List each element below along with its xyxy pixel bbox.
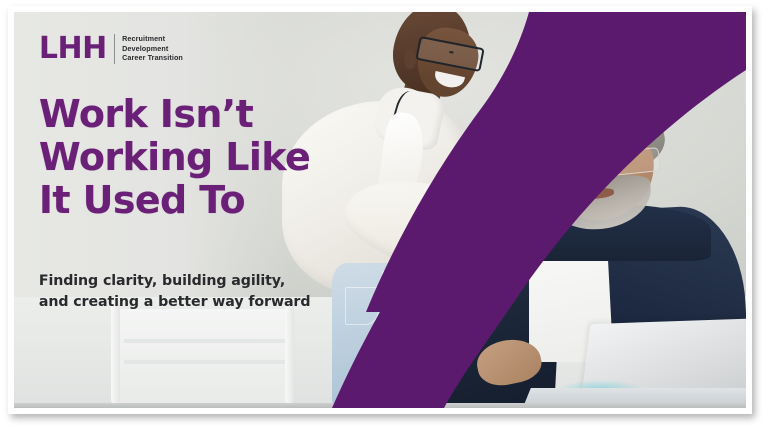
chair-slat [124, 360, 285, 364]
logo-descriptor-line-3: Career Transition [122, 54, 183, 62]
woman-jeans-seam [382, 271, 384, 392]
slide-frame: LHH Recruitment Development Career Trans… [8, 6, 752, 414]
desk-edge [14, 403, 746, 408]
chair-post-left [111, 301, 120, 404]
subhead-line-1: Finding clarity, building agility, [39, 271, 311, 292]
lhh-logo[interactable]: LHH Recruitment Development Career Trans… [39, 34, 183, 64]
chair-slat [124, 339, 285, 343]
headline-line-2: Working Like [39, 136, 310, 179]
headline-line-1: Work Isn’t [39, 93, 310, 136]
woman-ear [404, 49, 415, 69]
office-chair [116, 309, 292, 404]
subhead-line-2: and creating a better way forward [39, 292, 311, 313]
logo-descriptor-line-1: Recruitment [122, 35, 183, 43]
logo-descriptor-line-2: Development [122, 45, 183, 53]
logo-divider [114, 34, 115, 64]
woman-jeans-pocket [345, 287, 379, 325]
headline-line-3: It Used To [39, 179, 310, 222]
slide-headline: Work Isn’t Working Like It Used To [39, 93, 310, 222]
logo-wordmark: LHH [39, 34, 107, 64]
logo-descriptor: Recruitment Development Career Transitio… [122, 35, 183, 62]
slide-subhead: Finding clarity, building agility, and c… [39, 271, 311, 312]
presentation-slide: LHH Recruitment Development Career Trans… [14, 12, 746, 408]
woman-jeans [332, 263, 442, 408]
